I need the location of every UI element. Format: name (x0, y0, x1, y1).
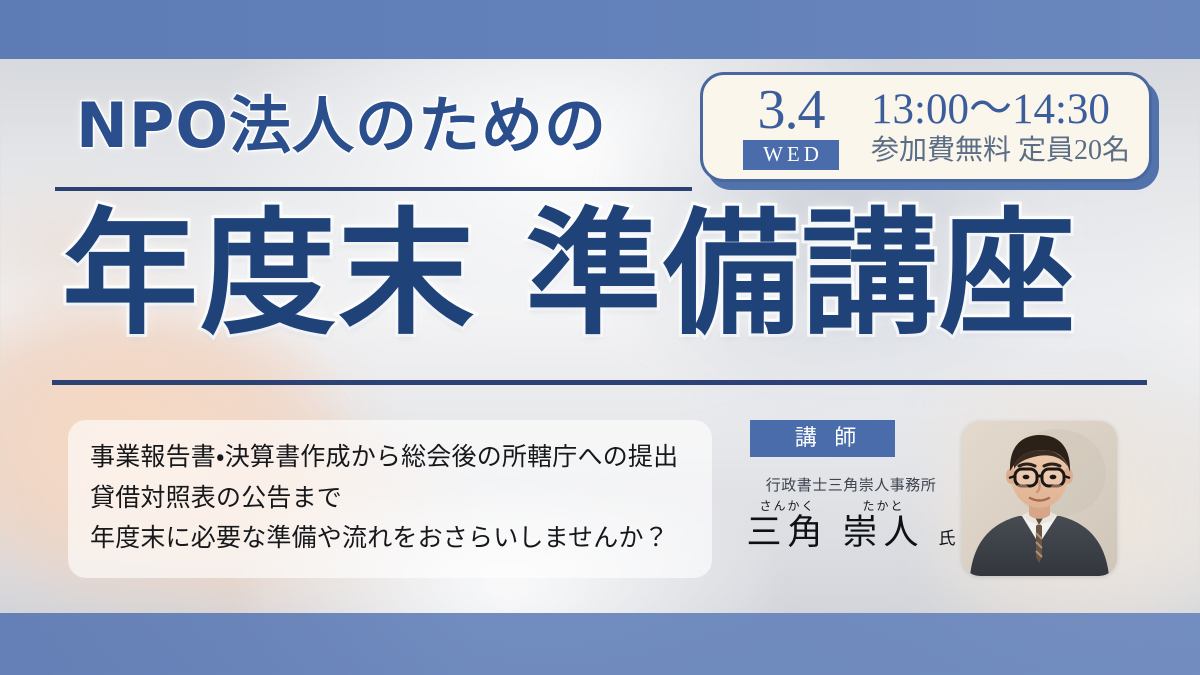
family-name-kanji: 三角 (746, 515, 828, 550)
instructor-name: さんかく 三角 たかと 崇人 氏 (736, 500, 966, 550)
given-name-kanji: 崇人 (843, 515, 925, 550)
date-badge-left: 3.4 WED (725, 84, 857, 170)
given-name-unit: たかと 崇人 (843, 500, 925, 550)
page-title: 年度末 準備講座 (62, 205, 1152, 346)
instructor-block: 講 師 行政書士三角崇人事務所 さんかく 三角 たかと 崇人 氏 (736, 420, 966, 580)
event-weekday: WED (743, 140, 839, 170)
description-line: 事業報告書・決算書作成から総会後の所轄庁への提出 (90, 437, 688, 478)
family-name-furigana: さんかく (759, 500, 815, 512)
bottom-band (0, 613, 1200, 675)
portrait-illustration (962, 421, 1117, 576)
event-fee-capacity: 参加費無料 定員20名 (871, 136, 1130, 167)
instructor-photo (962, 421, 1117, 576)
description-line: 貸借対照表の公告まで (90, 478, 688, 519)
divider-bottom (52, 380, 1147, 385)
description-line: 年度末に必要な準備や流れをおさらいしませんか？ (90, 518, 688, 559)
date-badge-right: 13:00〜14:30 参加費無料 定員20名 (871, 87, 1130, 167)
family-name-unit: さんかく 三角 (746, 500, 828, 550)
instructor-badge: 講 師 (750, 420, 895, 457)
kicker-heading: NPO法人のための (76, 95, 607, 157)
date-badge: 3.4 WED 13:00〜14:30 参加費無料 定員20名 (700, 72, 1152, 182)
given-name-furigana: たかと (863, 500, 905, 512)
divider-top (55, 187, 692, 191)
event-time: 13:00〜14:30 (871, 87, 1130, 133)
event-date: 3.4 (758, 84, 825, 137)
seminar-flyer: NPO法人のための 3.4 WED 13:00〜14:30 参加費無料 定員20… (0, 0, 1200, 675)
top-band (0, 0, 1200, 59)
name-honorific: 氏 (939, 530, 956, 550)
instructor-office: 行政書士三角崇人事務所 (736, 479, 966, 494)
description-panel: 事業報告書・決算書作成から総会後の所轄庁への提出 貸借対照表の公告まで 年度末に… (68, 420, 712, 578)
